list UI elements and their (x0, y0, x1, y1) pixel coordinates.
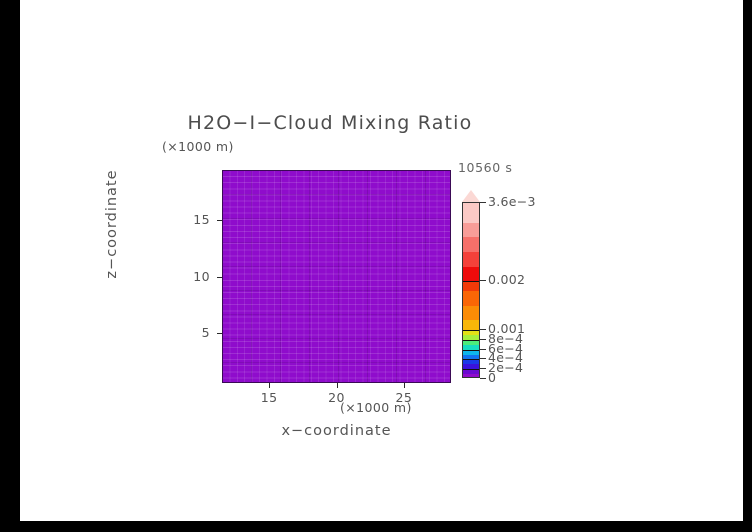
colorbar-tick-mark (480, 378, 486, 379)
screenshot-canvas: H2O−I−Cloud Mixing Ratio (×1000 m) 10560… (0, 0, 752, 532)
y-tick-mark (217, 333, 222, 334)
y-tick-label: 15 (180, 212, 210, 227)
colorbar-band (463, 223, 479, 238)
x-tick-mark (337, 383, 338, 388)
colorbar-tick-mark (480, 349, 486, 350)
colorbar-band (463, 252, 479, 267)
y-tick-mark (217, 220, 222, 221)
colorbar-band (463, 374, 479, 378)
colorbar-overflow-arrow-icon (462, 190, 480, 202)
colorbar-tick-label: 3.6e−3 (488, 194, 536, 209)
colorbar-band (463, 320, 479, 330)
y-tick-label: 5 (180, 325, 210, 340)
colorbar: 3.6e−30.0020.0018e−46e−44e−42e−40 (462, 190, 582, 390)
colorbar-band (463, 237, 479, 252)
colorbar-gradient-strip (462, 202, 480, 378)
timestamp-label: 10560 s (458, 160, 512, 175)
colorbar-tick-mark (480, 202, 486, 203)
y-axis-unit-label: (×1000 m) (162, 139, 234, 154)
colorbar-band (463, 203, 479, 223)
colorbar-level-separator (463, 350, 479, 351)
colorbar-tick-mark (480, 368, 486, 369)
x-tick-mark (269, 383, 270, 388)
colorbar-tick-mark (480, 329, 486, 330)
colorbar-band (463, 306, 479, 321)
colorbar-tick-label: 0.002 (488, 272, 525, 287)
colorbar-tick-label: 0 (488, 370, 496, 385)
colorbar-level-separator (463, 369, 479, 370)
frame-bar-left (0, 0, 20, 532)
plot-figure: H2O−I−Cloud Mixing Ratio (×1000 m) 10560… (20, 0, 743, 521)
x-tick-label: 15 (249, 390, 289, 405)
colorbar-tick-mark (480, 358, 486, 359)
frame-bar-right (743, 0, 752, 532)
y-axis-title: z−coordinate (104, 124, 120, 324)
colorbar-level-separator (463, 359, 479, 360)
y-tick-mark (217, 277, 222, 278)
y-tick-label: 10 (180, 269, 210, 284)
heatmap-mesh-grid (222, 170, 451, 383)
heatmap-plot-area (222, 170, 451, 383)
x-axis-unit-label: (×1000 m) (340, 400, 412, 415)
colorbar-level-separator (463, 330, 479, 331)
colorbar-tick-mark (480, 280, 486, 281)
x-tick-mark (404, 383, 405, 388)
colorbar-band (463, 281, 479, 291)
colorbar-band (463, 267, 479, 282)
colorbar-level-separator (463, 340, 479, 341)
x-axis-title: x−coordinate (222, 423, 451, 439)
colorbar-level-separator (463, 281, 479, 282)
colorbar-tick-mark (480, 339, 486, 340)
colorbar-band (463, 291, 479, 306)
frame-bar-bottom (0, 521, 752, 532)
